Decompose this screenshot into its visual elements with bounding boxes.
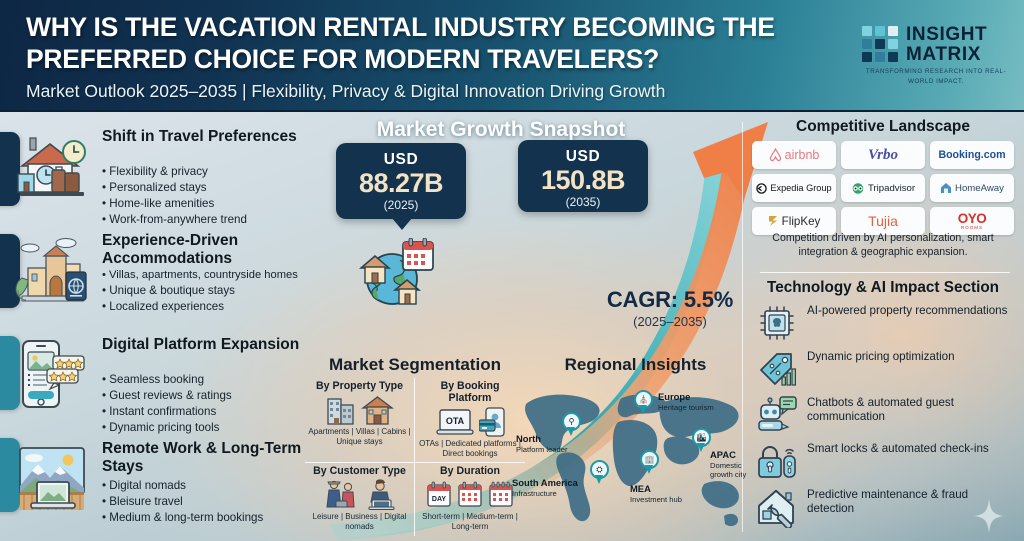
brand-tile-tripadvisor[interactable]: Tripadvisor [841,174,925,202]
region-label-europe: Europe Heritage tourism [658,392,714,412]
bullet-item: Villas, apartments, countryside homes [102,268,332,283]
left-block-bullets: Flexibility & privacy Personalized stays… [102,164,332,228]
sparkle-decor-icon [974,499,1004,533]
segment-by-duration: By Duration DAY [415,463,525,536]
house-clock-suitcase-icon [14,130,90,202]
globe-houses-calendar-icon [355,238,437,312]
bullet-item: Guest reviews & ratings [102,388,332,404]
snapshot-title: Market Growth Snapshot [336,118,666,142]
brand-label: Booking.com [938,149,1005,161]
bullet-item: Flexibility & privacy [102,164,332,180]
brand-label: airbnb [785,148,820,162]
kpi-year: (2035) [518,195,648,209]
kpi-currency: USD [518,148,648,166]
left-block-heading: Shift in Travel Preferences [102,128,324,146]
segment-by-customer-type: By Customer Type [305,463,415,536]
svg-text:OTA: OTA [445,416,464,426]
left-block-heading: Digital Platform Expansion [102,336,324,354]
svg-text:DAY: DAY [432,496,446,503]
region-desc: Infrastructure [512,489,578,498]
brand-label: OYO [958,212,987,226]
kpi-card-2035: USD 150.8B (2035) [518,140,648,212]
cagr-block: CAGR: 5.5% (2025–2035) [580,287,760,329]
segment-text: Apartments | Villas | Cabins | Unique st… [308,427,411,448]
bullet-item: Instant confirmations [102,404,332,420]
apartment-house-icon [308,393,411,427]
technology-section-title: Technology & AI Impact Section [752,279,1014,297]
airbnb-icon [769,148,782,162]
page-subtitle: Market Outlook 2025–2035 | Flexibility, … [26,81,856,102]
left-block-bullets: Digital nomads Bleisure travel Medium & … [102,478,332,526]
pin-apac[interactable]: 🏙 [692,428,711,453]
region-name: South America [512,478,578,489]
brand-label: Tripadvisor [868,183,915,194]
brand-tile-vrbo[interactable]: Vrbo [841,141,925,169]
region-desc: Domestic growth city [710,461,750,479]
kpi-currency: USD [336,151,466,169]
segment-by-booking-platform: By Booking Platform OTA OTAs | Dedicated… [415,378,525,463]
segment-text: Short-term | Medium-term | Long-term [418,512,522,533]
regional-title: Regional Insights [528,355,743,375]
bullet-item: Unique & boutique stays [102,283,332,299]
logo-line1: INSIGHT [906,24,987,46]
competition-note: Competition driven by AI personalization… [748,232,1018,259]
logo-grid-icon [862,26,898,62]
header-banner: WHY IS THE VACATION RENTAL INDUSTRY BECO… [0,0,1024,112]
brand-tile-flipkey[interactable]: FlipKey [752,207,836,235]
brand-label: FlipKey [782,215,821,228]
segment-heading: By Customer Type [308,465,411,477]
left-block-bullets: Seamless booking Guest reviews & ratings… [102,372,332,436]
brand-label: Vrbo [868,147,898,164]
bullet-item: Seamless booking [102,372,332,388]
kpi-pointer [392,218,412,230]
pin-mea[interactable]: 🏢 [640,450,659,475]
kpi-year: (2025) [336,198,466,212]
tech-divider [760,272,1010,273]
tech-label: Dynamic pricing optimization [807,350,1012,364]
insight-matrix-logo: INSIGHT MATRIX TRANSFORMING RESEARCH INT… [860,22,1010,92]
brand-tile-tujia[interactable]: Tujia [841,207,925,235]
region-desc: Investment hub [630,495,686,504]
brand-label: Tujia [868,213,898,229]
homeaway-house-icon [940,182,952,194]
world-map: ⚲ ⛭ ⛪ 🏢 🏙 North Platform leader South Am… [518,376,746,536]
bullet-item: Personalized stays [102,180,332,196]
left-block-heading: Experience-Driven Accommodations [102,232,324,267]
ai-chip-icon [755,302,799,344]
region-name: Europe [658,392,714,403]
kpi-card-2025: USD 88.27B (2025) [336,143,466,219]
segment-text: Leisure | Business | Digital nomads [308,512,411,533]
bullet-item: Localized experiences [102,299,332,315]
smart-lock-icon [755,440,799,482]
bullet-item: Digital nomads [102,478,332,494]
region-label-south-america: South America Infrastructure [512,478,578,498]
tech-item-dynamic-pricing: Dynamic pricing optimization [755,348,1013,392]
segmentation-grid: By Property Type [305,378,525,536]
segment-heading: By Booking Platform [418,380,522,404]
expedia-icon [756,183,767,194]
segment-by-property-type: By Property Type [305,378,415,463]
left-block-bullets: Villas, apartments, countryside homes Un… [102,268,332,315]
kpi-value: 150.8B [518,166,648,194]
region-name: APAC [710,450,750,461]
right-panel-divider [742,122,743,532]
tech-item-ai-recommendations: AI-powered property recommendations [755,302,1013,346]
cagr-period: (2025–2035) [580,314,760,329]
bullet-item: Bleisure travel [102,494,332,510]
region-name: North [516,434,568,445]
cagr-value: CAGR: 5.5% [580,287,760,313]
bullet-item: Work-from-anywhere trend [102,212,332,228]
price-tag-chart-icon [755,348,799,390]
segment-heading: By Duration [418,465,522,477]
brand-logo-grid: airbnb Vrbo Booking.com Expedia Group Tr… [752,141,1014,235]
left-block-heading: Remote Work & Long-Term Stays [102,440,324,475]
brand-tile-airbnb[interactable]: airbnb [752,141,836,169]
logo-line2: MATRIX [906,44,981,66]
house-wrench-icon [755,486,799,528]
competitive-landscape-title: Competitive Landscape [752,118,1014,136]
tech-item-smart-locks: Smart locks & automated check-ins [755,440,1013,484]
segment-heading: By Property Type [308,380,411,392]
tech-label: Smart locks & automated check-ins [807,442,1012,456]
tech-label: AI-powered property recommendations [807,304,1012,318]
calendar-day-icon: DAY [418,478,522,512]
flipkey-icon [768,215,779,227]
tech-label: Chatbots & automated guest communication [807,396,1012,425]
region-label-north-america: North Platform leader [516,434,568,454]
brand-tile-homeaway[interactable]: HomeAway [930,174,1014,202]
logo-tagline: TRANSFORMING RESEARCH INTO REAL-WORLD IM… [862,67,1010,87]
mobile-reviews-icon [14,338,90,410]
brand-label: HomeAway [955,183,1004,194]
brand-tile-oyo[interactable]: OYO ROOMS [930,207,1014,235]
region-label-mea: MEA Investment hub [630,484,686,504]
brand-sublabel: ROOMS [961,225,983,230]
region-name: MEA [630,484,686,495]
bullet-item: Dynamic pricing tools [102,420,332,436]
kpi-value: 88.27B [336,169,466,197]
travelers-laptop-worker-icon [308,478,411,512]
chatbot-icon [755,394,799,436]
region-desc: Heritage tourism [658,403,714,412]
segment-text: OTAs | Dedicated platforms | Direct book… [418,439,522,460]
tech-item-chatbots: Chatbots & automated guest communication [755,394,1013,438]
region-label-apac: APAC Domestic growth city [710,450,750,479]
brand-tile-expedia-group[interactable]: Expedia Group [752,174,836,202]
region-desc: Platform leader [516,445,568,454]
brand-label: Expedia Group [770,183,831,193]
infographic-poster: WHY IS THE VACATION RENTAL INDUSTRY BECO… [0,0,1024,541]
bullet-item: Medium & long-term bookings [102,510,332,526]
segmentation-title: Market Segmentation [305,355,525,375]
bullet-item: Home-like amenities [102,196,332,212]
page-title: WHY IS THE VACATION RENTAL INDUSTRY BECO… [26,11,856,76]
brand-tile-booking-com[interactable]: Booking.com [930,141,1014,169]
mountain-laptop-icon [14,442,90,514]
pin-south-america[interactable]: ⛭ [590,460,609,485]
pin-europe[interactable]: ⛪ [634,390,653,415]
laptop-ota-mobile-icon: OTA [418,405,522,439]
tripadvisor-owl-icon [851,183,865,194]
villa-passport-icon [14,234,90,306]
